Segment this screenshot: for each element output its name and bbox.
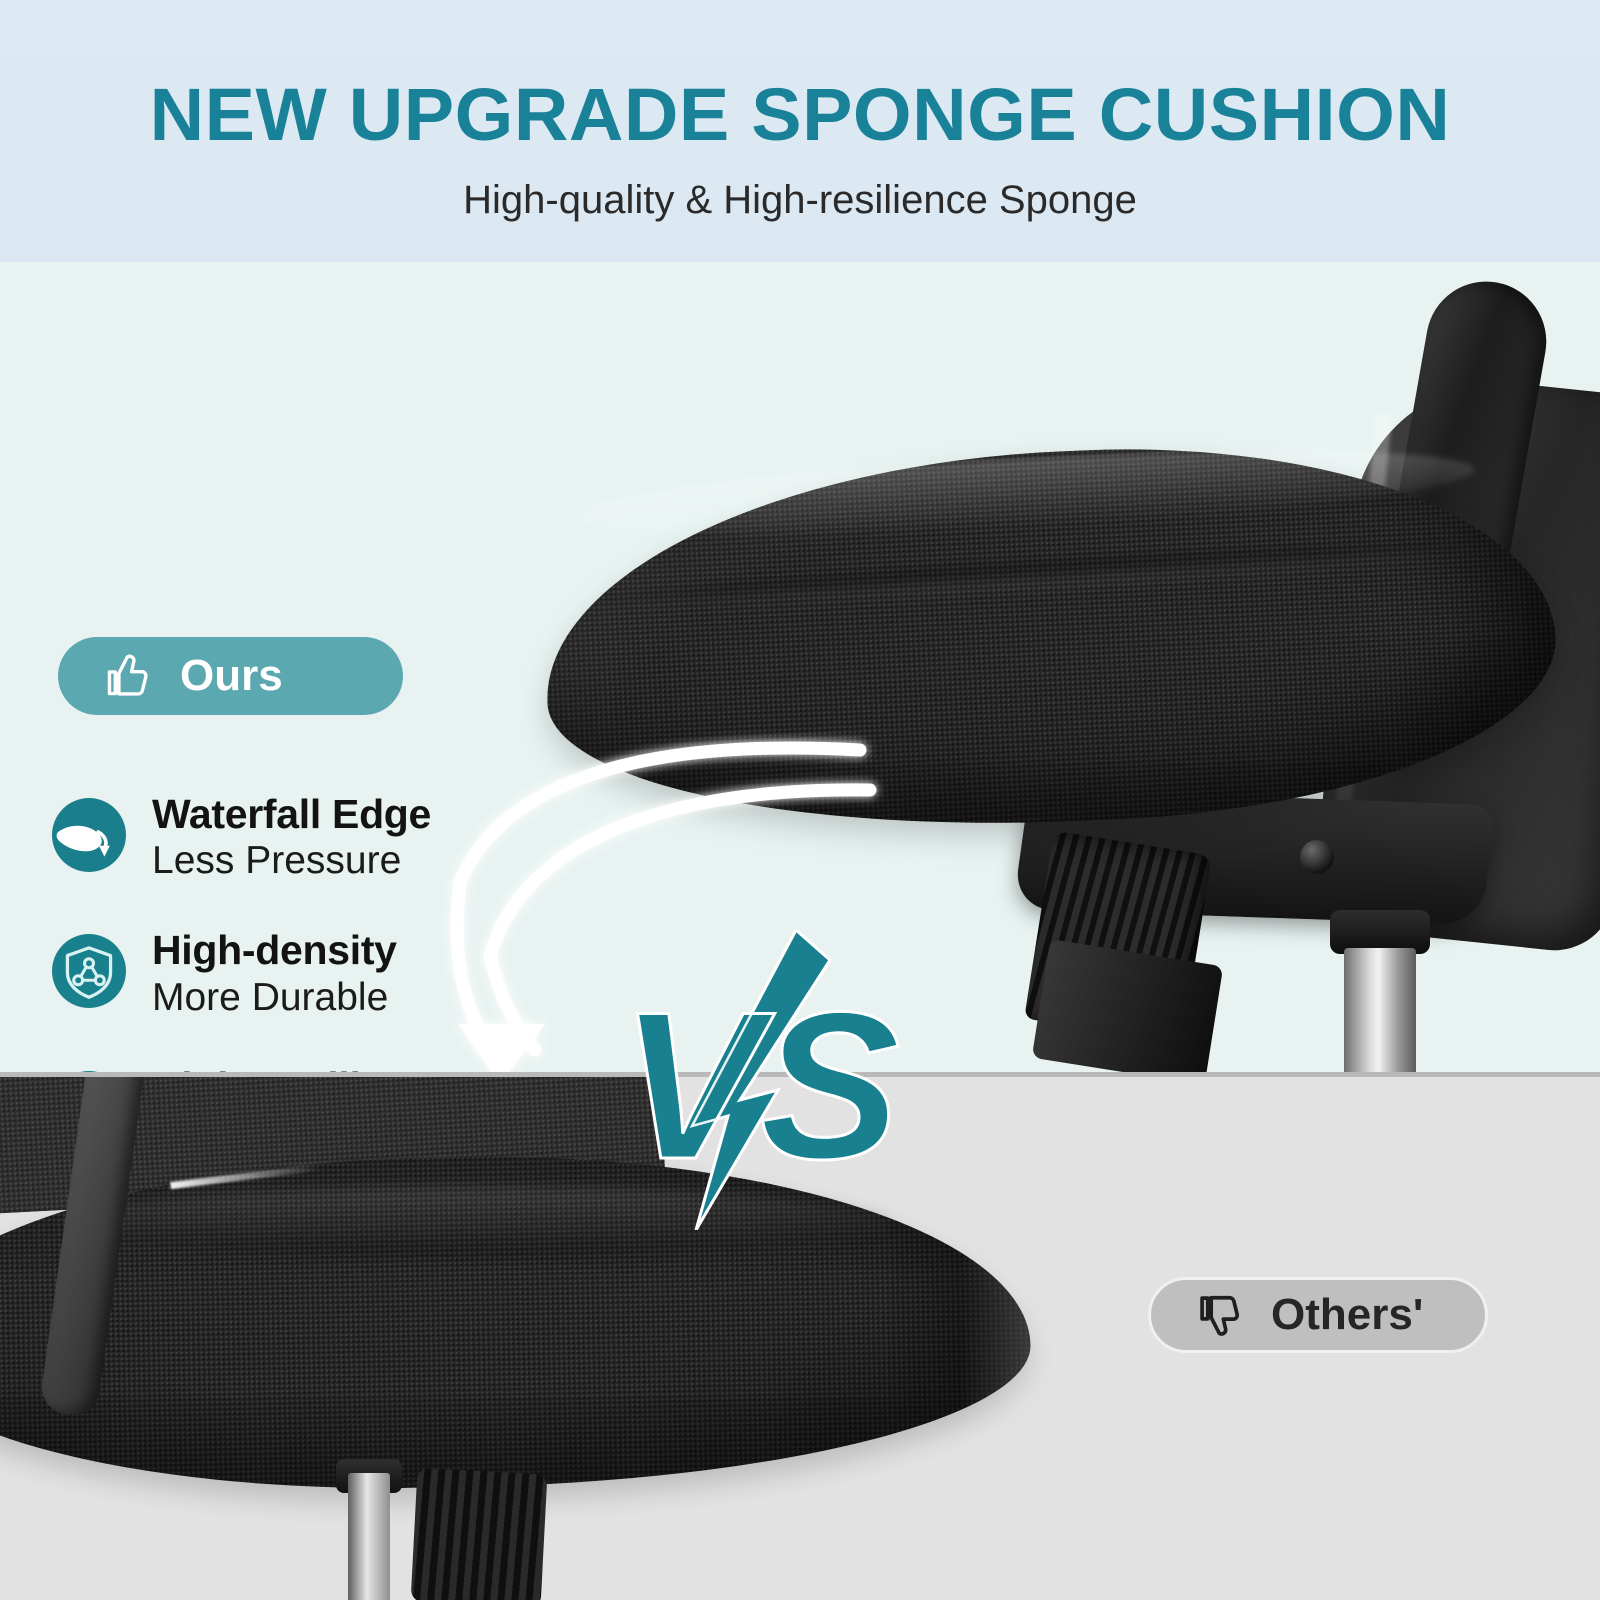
thumbs-down-icon — [1193, 1289, 1245, 1341]
thumbs-up-icon — [100, 649, 154, 703]
feature-item: High-density More Durable — [52, 928, 572, 1020]
feature-title: Waterfall Edge — [152, 792, 431, 836]
others-base-hub — [411, 1468, 548, 1600]
versus-graphic: VS — [600, 930, 900, 1230]
feature-item: High Resilience Softer — [52, 1065, 572, 1072]
feature-title: High Resilience — [152, 1065, 453, 1072]
feature-subtitle: More Durable — [152, 975, 397, 1021]
header-band: NEW UPGRADE SPONGE CUSHION High-quality … — [0, 0, 1600, 262]
others-badge-label: Others' — [1271, 1290, 1423, 1340]
shield-density-icon — [52, 934, 126, 1008]
infographic-root: NEW UPGRADE SPONGE CUSHION High-quality … — [0, 0, 1600, 1600]
page-subtitle: High-quality & High-resilience Sponge — [0, 178, 1600, 223]
ours-badge-label: Ours — [180, 651, 283, 701]
feature-title: High-density — [152, 928, 397, 972]
others-gas-cylinder — [348, 1473, 390, 1600]
chair-gas-cylinder — [1344, 948, 1416, 1072]
feature-text: High Resilience Softer — [152, 1065, 453, 1072]
page-title: NEW UPGRADE SPONGE CUSHION — [0, 72, 1600, 157]
feature-list: Waterfall Edge Less Pressure High-densit… — [52, 792, 572, 1072]
feature-text: High-density More Durable — [152, 928, 397, 1020]
versus-label: VS — [620, 968, 900, 1203]
feature-text: Waterfall Edge Less Pressure — [152, 792, 431, 884]
waterfall-edge-icon — [52, 798, 126, 872]
feature-item: Waterfall Edge Less Pressure — [52, 792, 572, 884]
chair-tension-knob — [1300, 840, 1334, 874]
others-badge[interactable]: Others' — [1148, 1277, 1488, 1353]
ours-badge[interactable]: Ours — [58, 637, 403, 715]
feature-subtitle: Less Pressure — [152, 838, 431, 884]
